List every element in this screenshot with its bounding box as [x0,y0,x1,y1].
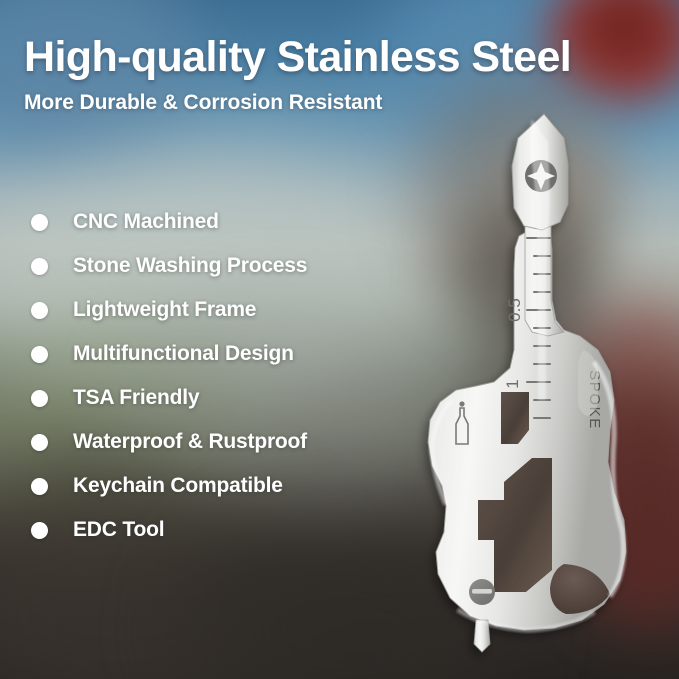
feature-label: Waterproof & Rustproof [73,430,307,454]
list-item: Lightweight Frame [24,288,424,332]
svg-text:1: 1 [503,379,522,388]
page-subtitle: More Durable & Corrosion Resistant [24,89,382,117]
feature-label: Keychain Compatible [73,474,283,498]
bullet-dot-icon [31,214,48,231]
bullet-dot-icon [31,478,48,495]
list-item: Multifunctional Design [24,332,424,376]
feature-label: Stone Washing Process [73,254,307,278]
bullet-dot-icon [31,522,48,539]
bullet-dot-icon [31,302,48,319]
bullet-dot-icon [31,346,48,363]
list-item: Waterproof & Rustproof [24,420,424,464]
list-item: Stone Washing Process [24,244,424,288]
bullet-dot-icon [31,390,48,407]
feature-label: TSA Friendly [73,386,199,410]
feature-label: CNC Machined [73,210,219,234]
list-item: Keychain Compatible [24,464,424,508]
feature-label: EDC Tool [73,518,164,542]
product-image-multitool: 0.5 1 SPOKE [398,100,660,670]
feature-list: CNC Machined Stone Washing Process Light… [24,200,424,552]
list-item: EDC Tool [24,508,424,552]
feature-label: Lightweight Frame [73,298,256,322]
list-item: TSA Friendly [24,376,424,420]
feature-label: Multifunctional Design [73,342,294,366]
page-title: High-quality Stainless Steel [24,31,571,83]
list-item: CNC Machined [24,200,424,244]
promo-banner: High-quality Stainless Steel More Durabl… [0,0,679,679]
bullet-dot-icon [31,434,48,451]
bullet-dot-icon [31,258,48,275]
svg-text:0.5: 0.5 [505,298,524,322]
